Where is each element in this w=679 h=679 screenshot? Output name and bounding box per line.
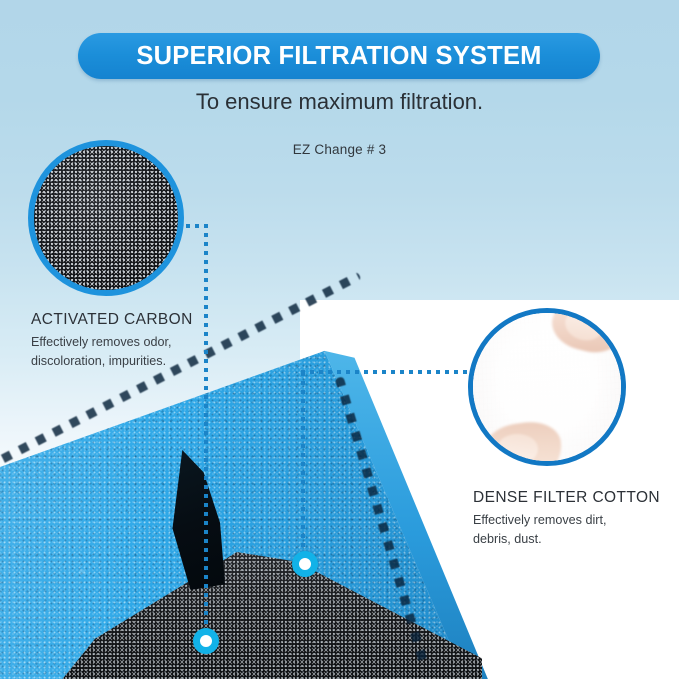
marker-dot-cotton-layer [292, 551, 318, 577]
callout-desc-line2: discoloration, impurities. [31, 352, 231, 371]
banner-title-pill: SUPERIOR FILTRATION SYSTEM [78, 33, 600, 79]
activated-carbon-closeup-circle [28, 140, 184, 296]
callout-desc-activated-carbon: Effectively removes odor, discoloration,… [31, 333, 231, 371]
infographic-poster: SUPERIOR FILTRATION SYSTEM To ensure max… [0, 0, 679, 679]
callout-desc-dense-filter-cotton: Effectively removes dirt, debris, dust. [473, 511, 673, 549]
cotton-fiber-veil [473, 313, 621, 461]
callout-desc-line2: debris, dust. [473, 530, 673, 549]
callout-title-dense-filter-cotton: DENSE FILTER COTTON [473, 489, 660, 507]
callout-desc-line1: Effectively removes dirt, [473, 511, 673, 530]
callout-title-activated-carbon: ACTIVATED CARBON [31, 311, 193, 329]
connector-cotton-horizontal [301, 370, 481, 374]
marker-dot-carbon-layer [193, 628, 219, 654]
banner-title-text: SUPERIOR FILTRATION SYSTEM [136, 42, 541, 71]
callout-desc-line1: Effectively removes odor, [31, 333, 231, 352]
connector-carbon-vertical [204, 224, 208, 642]
connector-cotton-vertical [301, 372, 305, 568]
product-photo [0, 344, 492, 679]
subtitle-text: To ensure maximum filtration. [0, 89, 679, 115]
dense-filter-cotton-closeup-circle [468, 308, 626, 466]
